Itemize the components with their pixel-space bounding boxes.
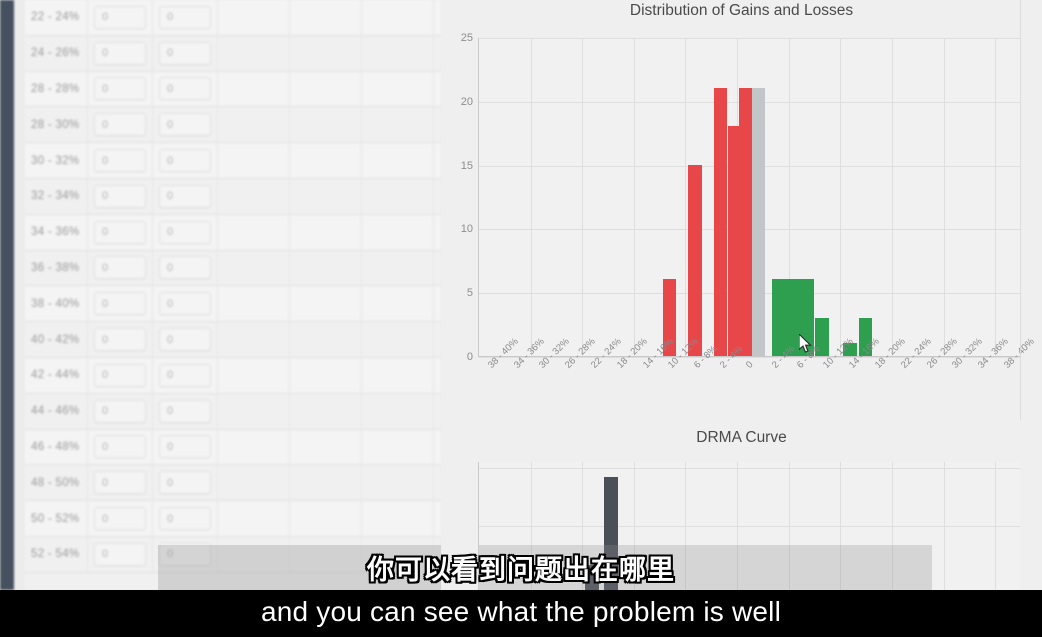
- cell-blank[interactable]: [218, 179, 290, 214]
- histogram-plot-area[interactable]: 0510152025: [478, 38, 1020, 357]
- cell-input-2[interactable]: 0: [153, 36, 218, 71]
- row-label: 46 - 48%: [25, 430, 88, 465]
- row-label: 44 - 46%: [25, 394, 88, 429]
- cell-input-2[interactable]: 0: [153, 358, 218, 393]
- row-label: 38 - 40%: [25, 286, 88, 321]
- cell-blank[interactable]: [362, 0, 434, 35]
- cell-blank[interactable]: [218, 465, 290, 500]
- cell-input-2[interactable]: 0: [153, 465, 218, 500]
- cell-blank[interactable]: [218, 36, 290, 71]
- cell-blank[interactable]: [362, 36, 434, 71]
- table-row[interactable]: 50 - 52%00: [25, 501, 441, 537]
- gridline-horizontal: [479, 468, 1020, 469]
- cell-blank[interactable]: [362, 358, 434, 393]
- cell-input-1[interactable]: 0: [88, 179, 153, 214]
- cell-input-1[interactable]: 0: [88, 251, 153, 286]
- cell-blank[interactable]: [362, 394, 434, 429]
- row-label: 42 - 44%: [25, 358, 88, 393]
- window-left-rail: [0, 0, 14, 590]
- value-field[interactable]: 0: [94, 221, 146, 244]
- cell-blank[interactable]: [434, 358, 441, 393]
- cell-input-2[interactable]: 0: [153, 286, 218, 321]
- row-label: 22 - 24%: [25, 0, 88, 35]
- row-label: 34 - 36%: [25, 215, 88, 250]
- cell-blank[interactable]: [218, 286, 290, 321]
- cell-blank[interactable]: [434, 286, 441, 321]
- value-field[interactable]: 0: [94, 6, 146, 29]
- y-axis-tick: 0: [467, 351, 473, 363]
- cell-blank[interactable]: [362, 286, 434, 321]
- value-field[interactable]: 0: [94, 328, 146, 351]
- value-field[interactable]: 0: [94, 400, 146, 423]
- value-field[interactable]: 0: [159, 256, 211, 279]
- gridline-vertical: [995, 38, 996, 356]
- value-field[interactable]: 0: [159, 364, 211, 387]
- cell-blank[interactable]: [218, 501, 290, 536]
- value-field[interactable]: 0: [94, 185, 146, 208]
- cell-blank[interactable]: [290, 215, 362, 250]
- cell-blank[interactable]: [434, 179, 441, 214]
- y-axis-tick: 5: [467, 287, 473, 299]
- drma-title: DRMA Curve: [441, 429, 1042, 447]
- value-field[interactable]: 0: [94, 435, 146, 458]
- value-field[interactable]: 0: [159, 328, 211, 351]
- row-gutter: [14, 0, 25, 590]
- chart-right-border: [1020, 0, 1021, 420]
- cell-blank[interactable]: [434, 0, 441, 35]
- cell-blank[interactable]: [218, 215, 290, 250]
- cell-input-1[interactable]: 0: [88, 322, 153, 357]
- spreadsheet-panel[interactable]: 22 - 24%0024 - 26%0028 - 28%0028 - 30%00…: [0, 0, 441, 590]
- cell-blank[interactable]: [290, 179, 362, 214]
- cell-blank[interactable]: [290, 143, 362, 178]
- y-axis-tick: 15: [461, 160, 473, 172]
- row-label: 40 - 42%: [25, 322, 88, 357]
- cell-blank[interactable]: [362, 179, 434, 214]
- row-label: 32 - 34%: [25, 179, 88, 214]
- cell-input-2[interactable]: 0: [153, 501, 218, 536]
- value-field[interactable]: 0: [94, 471, 146, 494]
- cell-input-1[interactable]: 0: [88, 430, 153, 465]
- cell-blank[interactable]: [290, 465, 362, 500]
- row-label: 50 - 52%: [25, 501, 88, 536]
- value-field[interactable]: 0: [94, 507, 146, 530]
- row-label: 48 - 50%: [25, 465, 88, 500]
- value-field[interactable]: 0: [159, 221, 211, 244]
- cell-blank[interactable]: [218, 72, 290, 107]
- cell-input-1[interactable]: 0: [88, 215, 153, 250]
- table-row[interactable]: 34 - 36%00: [25, 215, 441, 251]
- table-row[interactable]: 22 - 24%00: [25, 0, 441, 36]
- cell-input-2[interactable]: 0: [153, 107, 218, 142]
- gridline-horizontal: [479, 526, 1020, 527]
- gridline-vertical: [582, 38, 583, 356]
- charts-panel: Distribution of Gains and Losses 0510152…: [441, 0, 1042, 590]
- cell-blank[interactable]: [218, 322, 290, 357]
- cell-blank[interactable]: [434, 394, 441, 429]
- cell-input-1[interactable]: 0: [88, 286, 153, 321]
- gridline-vertical: [892, 38, 893, 356]
- cell-input-1[interactable]: 0: [88, 358, 153, 393]
- value-field[interactable]: 0: [159, 149, 211, 172]
- value-field[interactable]: 0: [94, 113, 146, 136]
- y-axis-tick: 20: [461, 96, 473, 108]
- value-field[interactable]: 0: [94, 256, 146, 279]
- table-row[interactable]: 40 - 42%00: [25, 322, 441, 358]
- value-field[interactable]: 0: [94, 364, 146, 387]
- cell-blank[interactable]: [218, 0, 290, 35]
- cell-input-1[interactable]: 0: [88, 394, 153, 429]
- cell-blank[interactable]: [434, 215, 441, 250]
- row-label: 24 - 26%: [25, 36, 88, 71]
- x-axis-tick: 0: [744, 359, 756, 371]
- histogram-bar: [772, 279, 785, 356]
- cell-blank[interactable]: [218, 430, 290, 465]
- row-label: 28 - 28%: [25, 72, 88, 107]
- cell-blank[interactable]: [434, 72, 441, 107]
- cell-blank[interactable]: [218, 107, 290, 142]
- cell-blank[interactable]: [362, 251, 434, 286]
- cell-input-2[interactable]: 0: [153, 394, 218, 429]
- cell-input-2[interactable]: 0: [153, 215, 218, 250]
- screen-root: 22 - 24%0024 - 26%0028 - 28%0028 - 30%00…: [0, 0, 1042, 637]
- cell-input-1[interactable]: 0: [88, 107, 153, 142]
- cell-blank[interactable]: [218, 358, 290, 393]
- cell-blank[interactable]: [434, 501, 441, 536]
- value-field[interactable]: 0: [94, 149, 146, 172]
- table-row[interactable]: 38 - 40%00: [25, 286, 441, 322]
- value-field[interactable]: 0: [159, 42, 211, 65]
- histogram-bar: [752, 88, 765, 356]
- cell-input-2[interactable]: 0: [153, 251, 218, 286]
- cell-input-2[interactable]: 0: [153, 322, 218, 357]
- cell-blank[interactable]: [290, 394, 362, 429]
- value-field[interactable]: 0: [159, 185, 211, 208]
- table-row[interactable]: 42 - 44%00: [25, 358, 441, 394]
- histogram-bar: [688, 165, 701, 356]
- histogram-bar: [714, 88, 727, 356]
- value-field[interactable]: 0: [159, 471, 211, 494]
- cell-blank[interactable]: [290, 72, 362, 107]
- cell-input-2[interactable]: 0: [153, 72, 218, 107]
- cell-input-2[interactable]: 0: [153, 0, 218, 35]
- cell-blank[interactable]: [290, 501, 362, 536]
- cell-blank[interactable]: [362, 107, 434, 142]
- cell-blank[interactable]: [290, 430, 362, 465]
- cell-input-2[interactable]: 0: [153, 179, 218, 214]
- cell-input-1[interactable]: 0: [88, 465, 153, 500]
- table-row[interactable]: 44 - 46%00: [25, 394, 441, 430]
- cell-blank[interactable]: [218, 394, 290, 429]
- cell-blank[interactable]: [290, 36, 362, 71]
- cell-blank[interactable]: [290, 251, 362, 286]
- value-field[interactable]: 0: [94, 42, 146, 65]
- cell-blank[interactable]: [218, 143, 290, 178]
- table-row[interactable]: 46 - 48%00: [25, 430, 441, 466]
- cell-blank[interactable]: [362, 143, 434, 178]
- value-field[interactable]: 0: [159, 77, 211, 100]
- table-row[interactable]: 48 - 50%00: [25, 465, 441, 501]
- value-field[interactable]: 0: [159, 507, 211, 530]
- cell-input-1[interactable]: 0: [88, 36, 153, 71]
- cell-blank[interactable]: [290, 358, 362, 393]
- value-field[interactable]: 0: [159, 113, 211, 136]
- cell-blank[interactable]: [362, 72, 434, 107]
- cell-blank[interactable]: [362, 322, 434, 357]
- cell-input-1[interactable]: 0: [88, 0, 153, 35]
- cell-input-1[interactable]: 0: [88, 143, 153, 178]
- histogram-title: Distribution of Gains and Losses: [441, 2, 1042, 20]
- row-label: 36 - 38%: [25, 251, 88, 286]
- cell-blank[interactable]: [434, 36, 441, 71]
- cell-blank[interactable]: [290, 286, 362, 321]
- table-row[interactable]: 28 - 30%00: [25, 107, 441, 143]
- cell-blank[interactable]: [290, 107, 362, 142]
- value-field[interactable]: 0: [159, 292, 211, 315]
- cell-blank[interactable]: [290, 0, 362, 35]
- cell-blank[interactable]: [434, 251, 441, 286]
- subtitle-chinese: 你可以看到问题出在哪里: [0, 548, 1042, 587]
- gridline-horizontal: [479, 38, 1020, 39]
- cell-blank[interactable]: [362, 465, 434, 500]
- gridline-vertical: [634, 38, 635, 356]
- subtitle-english: and you can see what the problem is well: [0, 596, 1042, 628]
- histogram-bar: [739, 88, 752, 356]
- value-field[interactable]: 0: [94, 292, 146, 315]
- gridline-vertical: [944, 38, 945, 356]
- table-row[interactable]: 32 - 34%00: [25, 179, 441, 215]
- cell-blank[interactable]: [362, 215, 434, 250]
- table-row[interactable]: 30 - 32%00: [25, 143, 441, 179]
- table-row[interactable]: 28 - 28%00: [25, 72, 441, 108]
- cell-blank[interactable]: [434, 107, 441, 142]
- cell-blank[interactable]: [434, 143, 441, 178]
- cell-blank[interactable]: [290, 322, 362, 357]
- row-label: 30 - 32%: [25, 143, 88, 178]
- cell-blank[interactable]: [434, 465, 441, 500]
- value-field[interactable]: 0: [159, 400, 211, 423]
- value-field[interactable]: 0: [94, 77, 146, 100]
- gridline-vertical: [531, 38, 532, 356]
- cell-blank[interactable]: [362, 430, 434, 465]
- cell-blank[interactable]: [434, 430, 441, 465]
- y-axis-tick: 10: [461, 223, 473, 235]
- table-row[interactable]: 24 - 26%00: [25, 36, 441, 72]
- cell-blank[interactable]: [362, 501, 434, 536]
- cell-input-2[interactable]: 0: [153, 430, 218, 465]
- table-row[interactable]: 36 - 38%00: [25, 251, 441, 287]
- value-field[interactable]: 0: [159, 6, 211, 29]
- gridline-vertical: [685, 38, 686, 356]
- cell-blank[interactable]: [434, 322, 441, 357]
- cell-input-1[interactable]: 0: [88, 72, 153, 107]
- row-label: 28 - 30%: [25, 107, 88, 142]
- value-field[interactable]: 0: [159, 435, 211, 458]
- distribution-table[interactable]: 22 - 24%0024 - 26%0028 - 28%0028 - 30%00…: [25, 0, 441, 590]
- y-axis-tick: 25: [461, 32, 473, 44]
- gridline-vertical: [840, 38, 841, 356]
- cell-blank[interactable]: [218, 251, 290, 286]
- cell-input-1[interactable]: 0: [88, 501, 153, 536]
- cell-input-2[interactable]: 0: [153, 143, 218, 178]
